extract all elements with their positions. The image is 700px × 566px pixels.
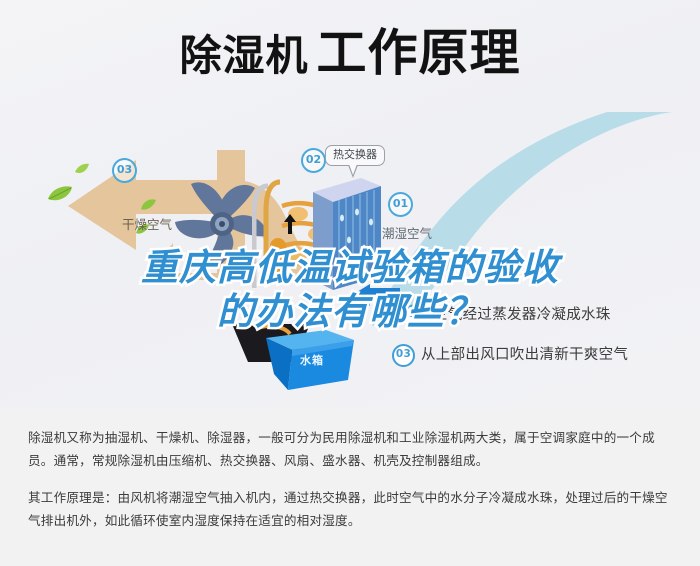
page-title: 除湿机工作原理 xyxy=(0,28,700,78)
overlay-headline-line-2: 的办法有哪些？ xyxy=(0,290,700,334)
infographic-page: 除湿机工作原理 xyxy=(0,0,700,566)
article-body: 除湿机又称为抽湿机、干燥机、除湿器，一般可分为民用除湿机和工业除湿机两大类，属于… xyxy=(0,408,700,566)
title-part-2: 工作原理 xyxy=(317,24,521,82)
water-tank-label: 水箱 xyxy=(300,352,324,368)
badge-heat-exchanger: 02 xyxy=(301,148,326,173)
step-03-caption: 03从上部出风口吹出清新干爽空气 xyxy=(392,343,628,367)
step-03-number: 03 xyxy=(392,344,415,367)
leaf-icon xyxy=(141,196,157,215)
label-dry-air: 干燥空气 xyxy=(122,214,172,233)
step-03-text: 从上部出风口吹出清新干爽空气 xyxy=(421,347,628,363)
overlay-headline: 重庆高低温试验箱的验收 的办法有哪些？ xyxy=(0,246,700,334)
heat-exchanger-callout: 热交换器 xyxy=(325,145,385,166)
badge-dry-air: 03 xyxy=(112,158,137,183)
badge-humid-air: 01 xyxy=(388,192,413,217)
leaf-icon xyxy=(46,185,74,207)
label-humid-air: 潮湿空气 xyxy=(382,223,432,242)
overlay-headline-line-1: 重庆高低温试验箱的验收 xyxy=(0,246,700,290)
paragraph-1: 除湿机又称为抽湿机、干燥机、除湿器，一般可分为民用除湿机和工业除湿机两大类，属于… xyxy=(28,426,676,473)
hero-infographic: 除湿机工作原理 xyxy=(0,0,700,408)
paragraph-2: 其工作原理是：由风机将潮湿空气抽入机内，通过热交换器，此时空气中的水分子冷凝成水… xyxy=(28,486,676,533)
title-part-1: 除湿机 xyxy=(179,31,308,80)
leaf-icon xyxy=(74,160,90,179)
